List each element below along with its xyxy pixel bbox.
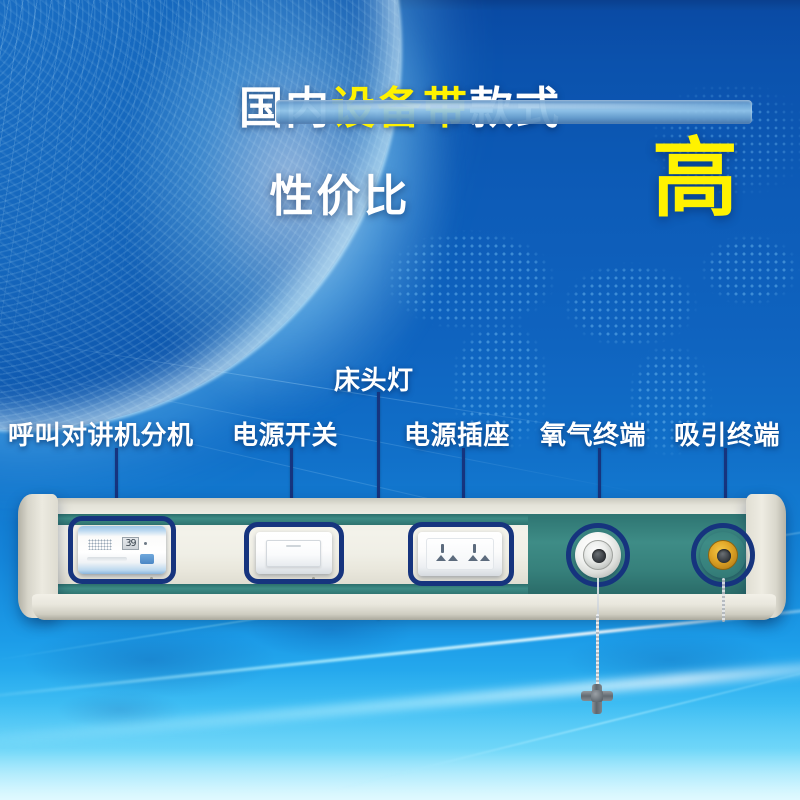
- callout-power-socket: 电源插座: [404, 415, 510, 452]
- pull-cord-weight[interactable]: [581, 684, 613, 714]
- bottom-light-glow: [0, 670, 800, 800]
- pull-cord-weight-center: [591, 690, 603, 702]
- highlight-box-intercom: [68, 516, 176, 584]
- highlight-box-socket: [408, 522, 514, 586]
- callout-power-switch: 电源开关: [232, 415, 338, 452]
- callout-bed-lamp: 床头灯: [334, 360, 414, 397]
- panel-bottom-lip: [32, 594, 776, 620]
- emergency-pull-cord[interactable]: [596, 614, 599, 690]
- callout-oxygen-terminal: 氧气终端: [540, 415, 646, 452]
- headline-big-word: 高: [652, 136, 738, 222]
- headline-subtitle: 性价比: [270, 160, 411, 224]
- callout-nurse-call-intercom: 呼叫对讲机分机: [8, 415, 194, 452]
- callout-suction-terminal: 吸引终端: [674, 415, 780, 452]
- secondary-pull-cord[interactable]: [722, 578, 725, 622]
- handrail-gloss: [280, 103, 748, 109]
- pull-cord-upper: [597, 578, 599, 616]
- product-banner: 国内设备带款式 性价比 高 呼叫对讲机分机 电源开关 床头灯 电源插座 氧气终端…: [0, 0, 800, 800]
- highlight-box-switch: [244, 522, 344, 584]
